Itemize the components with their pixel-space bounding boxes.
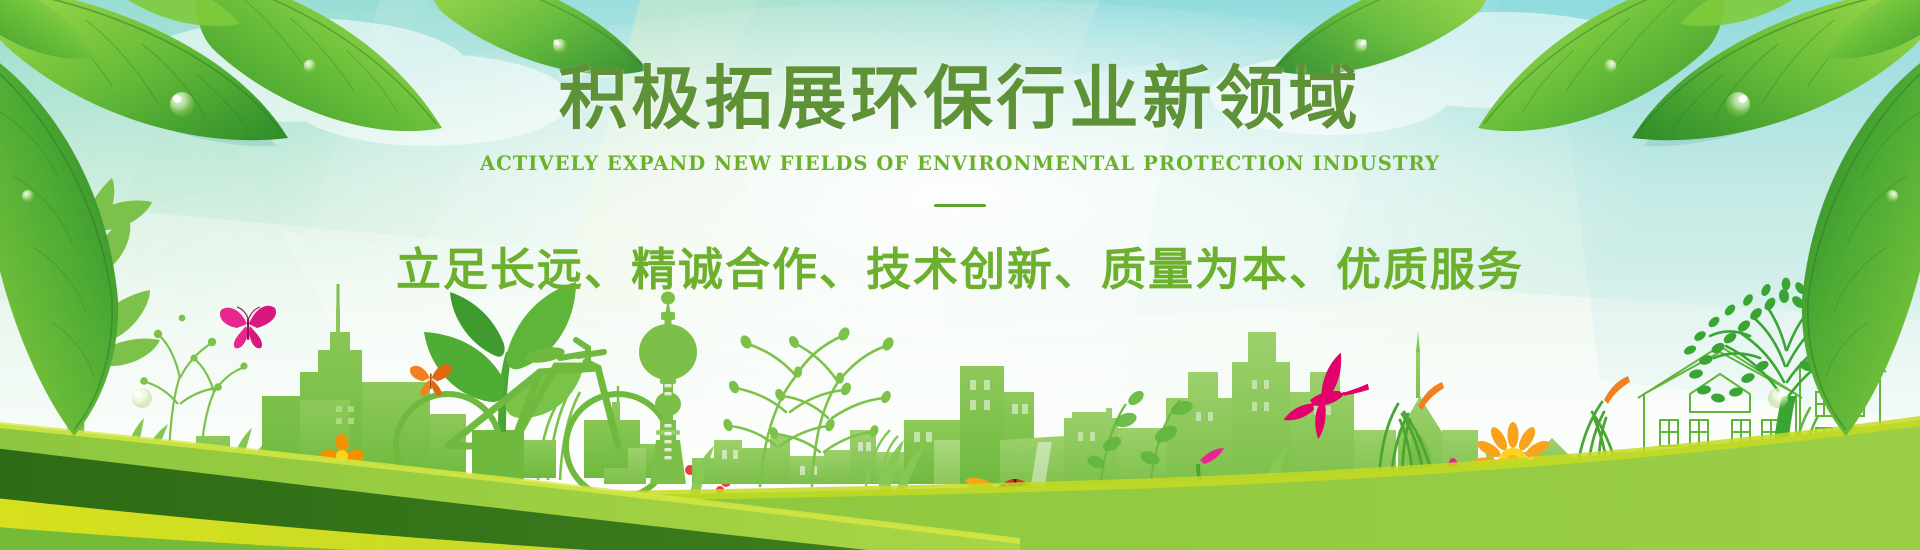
leaf-cluster-right bbox=[1272, 0, 1920, 436]
leaf-cluster-left bbox=[0, 0, 648, 436]
eco-banner: 积极拓展环保行业新领域 ACTIVELY EXPAND NEW FIELDS O… bbox=[0, 0, 1920, 550]
leaf-cluster-icon bbox=[0, 0, 1920, 550]
